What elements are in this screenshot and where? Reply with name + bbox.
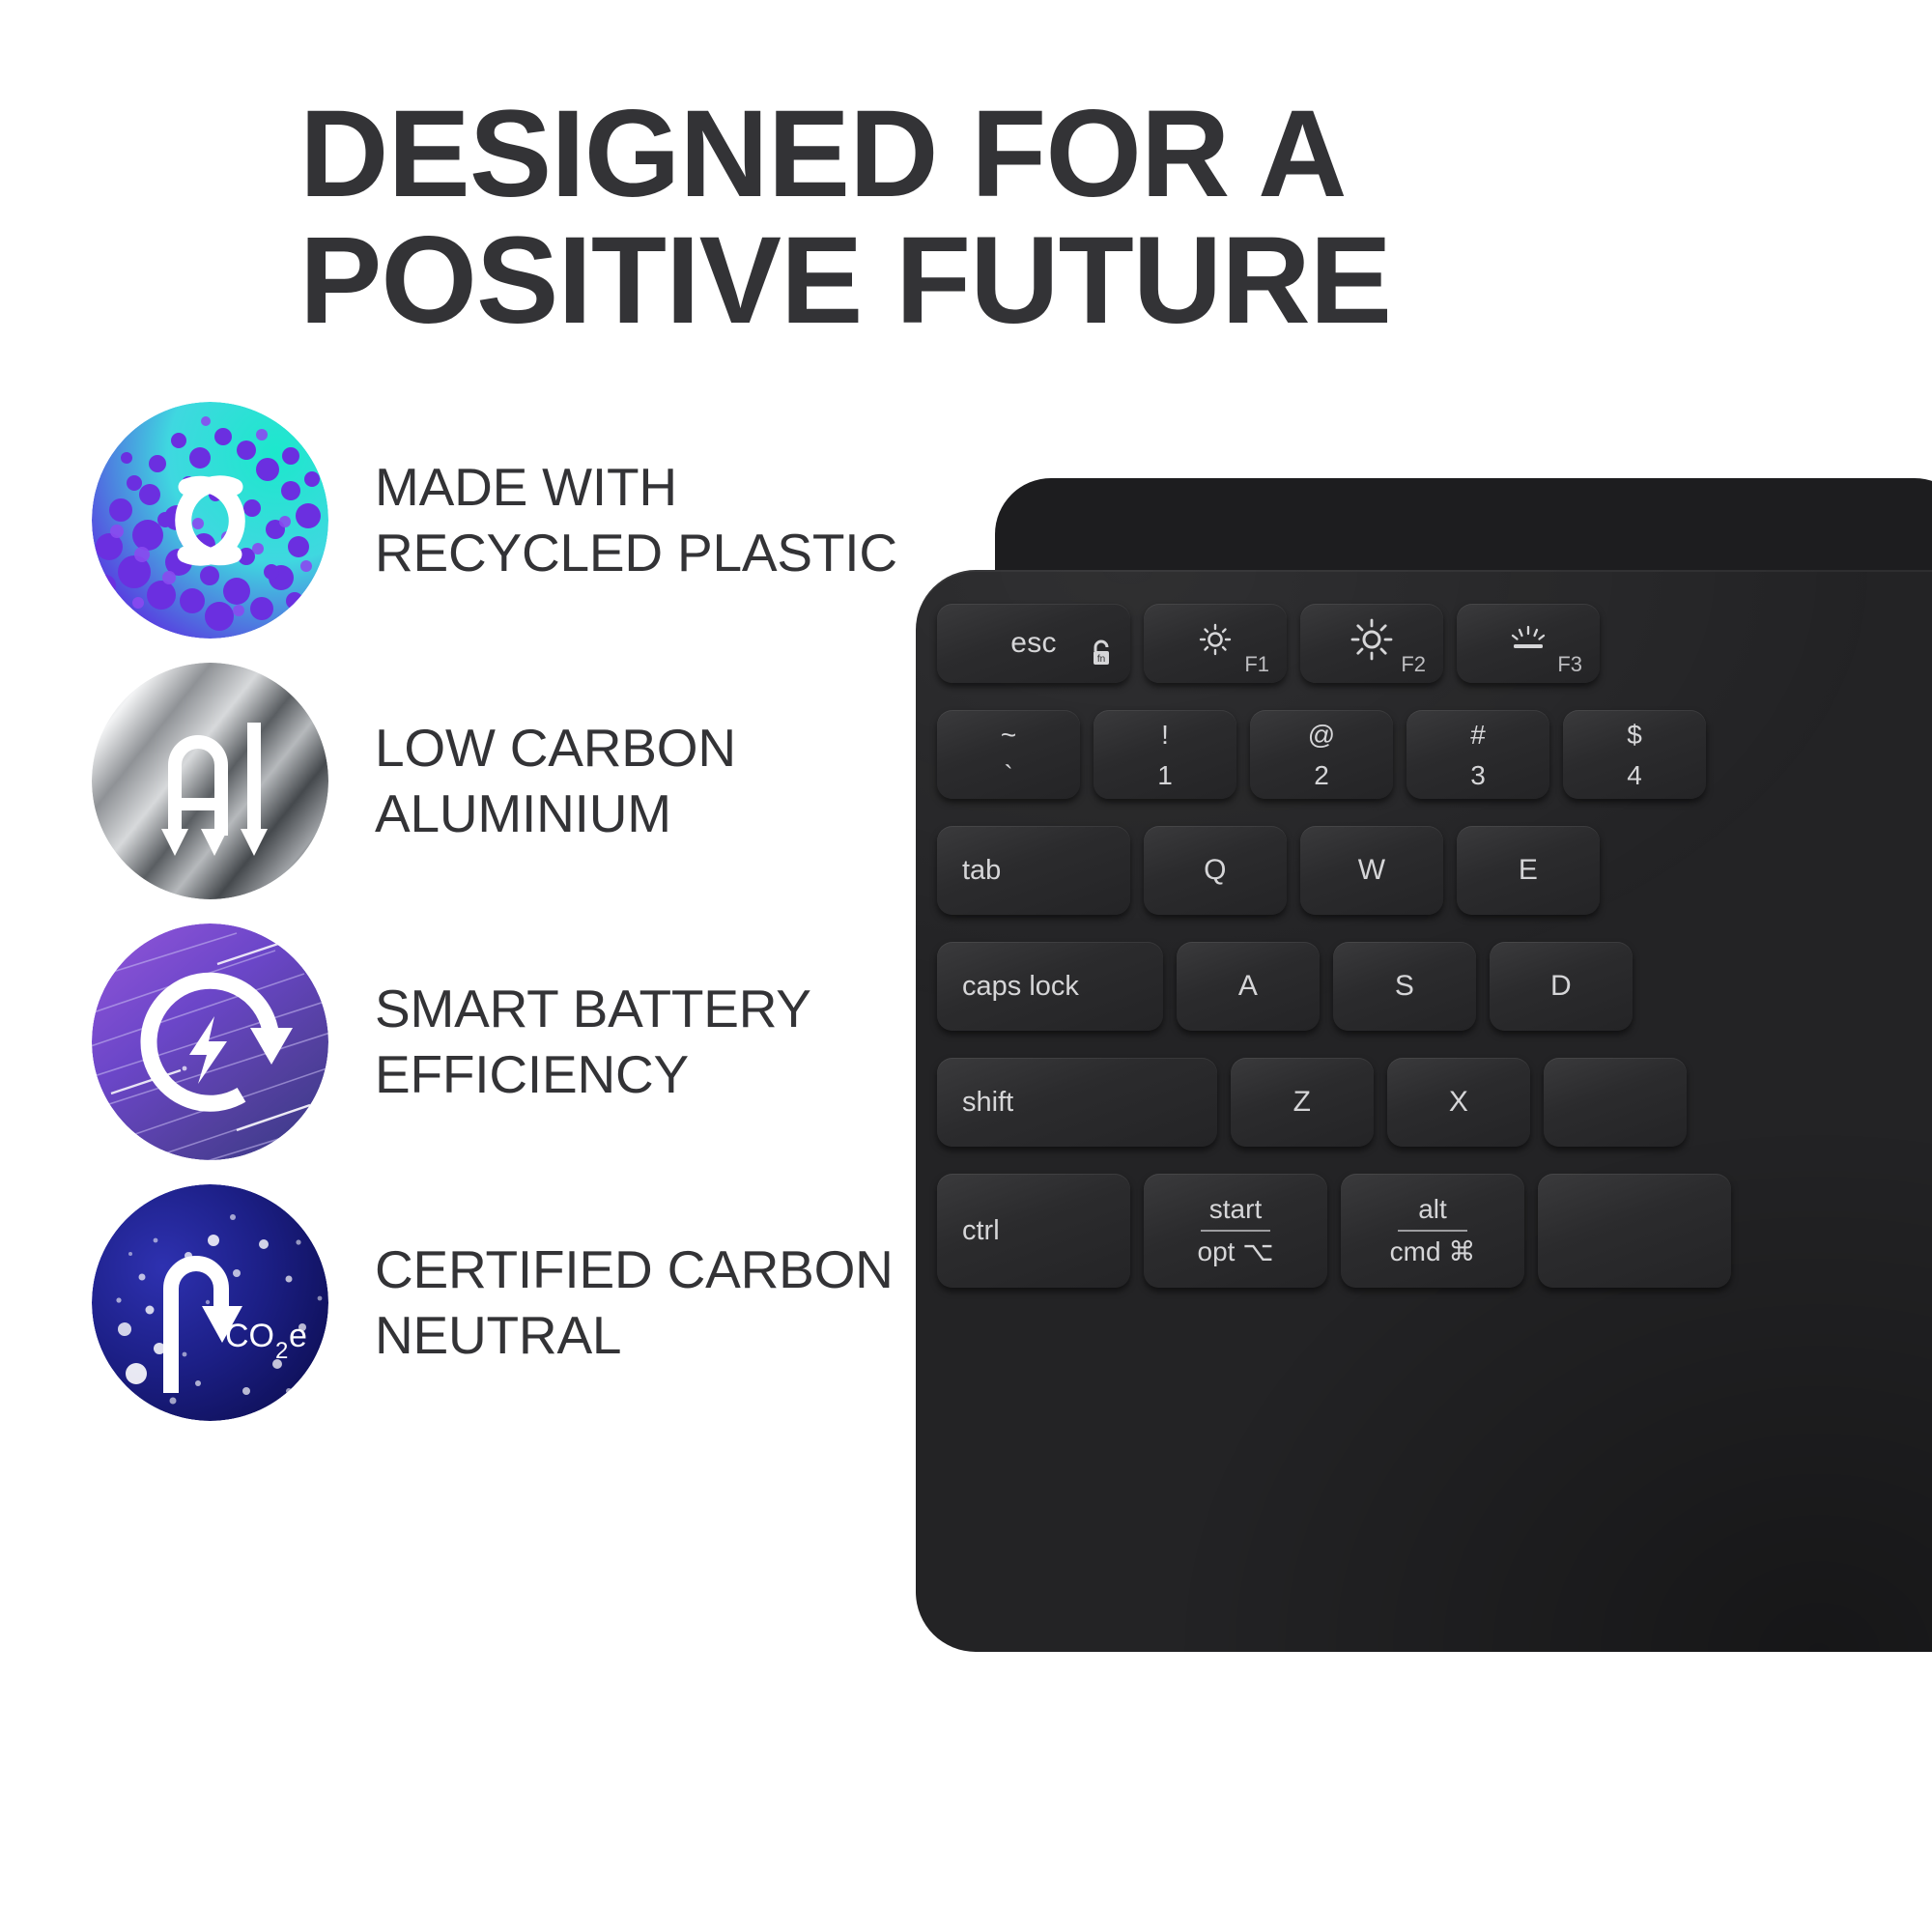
key-f3[interactable]: F3 [1457, 604, 1600, 683]
keyboard-image: esc fn [898, 478, 1932, 1753]
key-q-label: Q [1204, 854, 1227, 887]
key-1-top: ! [1161, 720, 1169, 751]
page-title-line-1: DESIGNED FOR A [299, 92, 1637, 218]
fn-lock-icon: fn [1088, 639, 1115, 675]
key-tab-label: tab [962, 855, 1001, 887]
badge-low-carbon-aluminium [92, 663, 328, 899]
key-d-label: D [1550, 970, 1572, 1003]
key-e-label: E [1519, 854, 1538, 887]
key-f2-fn-label: F2 [1401, 652, 1426, 677]
page-title: DESIGNED FOR A POSITIVE FUTURE [382, 92, 1637, 344]
backlight-icon [1506, 623, 1550, 664]
key-shift-label: shift [962, 1087, 1013, 1119]
key-e[interactable]: E [1457, 826, 1600, 915]
brightness-high-icon [1350, 617, 1394, 669]
aluminium-down-arrows-icon [92, 663, 328, 899]
key-caps-lock[interactable]: caps lock [937, 942, 1163, 1031]
key-f3-fn-label: F3 [1557, 652, 1582, 677]
key-x[interactable]: X [1387, 1058, 1530, 1147]
key-a[interactable]: A [1177, 942, 1320, 1031]
keyboard-row-shift: shift Z X [937, 1058, 1700, 1147]
keyboard-row-caps: caps lock A S D [937, 942, 1646, 1031]
key-2-top: @ [1308, 720, 1335, 751]
feature-item-low-carbon-aluminium: LOW CARBON ALUMINIUM [92, 662, 942, 900]
page-title-line-2: POSITIVE FUTURE [299, 218, 1637, 345]
key-2[interactable]: @ 2 [1250, 710, 1393, 799]
key-caps-lock-label: caps lock [962, 971, 1079, 1003]
key-f2[interactable]: F2 [1300, 604, 1443, 683]
key-w-label: W [1358, 854, 1386, 887]
key-alt-cmd-stack: alt cmd ⌘ [1390, 1196, 1476, 1265]
key-opt-label: opt ⌥ [1198, 1232, 1274, 1265]
key-q[interactable]: Q [1144, 826, 1287, 915]
battery-refresh-bolt-icon [92, 923, 328, 1160]
recycle-loop-icon [92, 402, 328, 639]
key-shift[interactable]: shift [937, 1058, 1217, 1147]
brightness-low-icon [1196, 620, 1235, 667]
key-f1[interactable]: F1 [1144, 604, 1287, 683]
key-4-bottom: 4 [1627, 760, 1642, 791]
key-tilde-top: ~ [1001, 720, 1016, 751]
key-3-bottom: 3 [1470, 760, 1486, 791]
key-alt-cmd[interactable]: alt cmd ⌘ [1341, 1174, 1524, 1288]
key-ctrl[interactable]: ctrl [937, 1174, 1130, 1288]
co2e-neutral-hook-icon: CO 2 e [92, 1184, 328, 1421]
key-alt-label: alt [1418, 1196, 1447, 1230]
svg-text:fn: fn [1097, 654, 1105, 665]
key-3-top: # [1470, 720, 1486, 751]
key-f1-fn-label: F1 [1244, 652, 1269, 677]
keyboard-row-tab: tab Q W E [937, 826, 1613, 915]
key-c[interactable] [1544, 1058, 1687, 1147]
feature-label-smart-battery-efficiency: SMART BATTERY EFFICIENCY [375, 977, 811, 1106]
key-start-label: start [1209, 1196, 1262, 1230]
keyboard-row-modifiers: ctrl start opt ⌥ alt cmd ⌘ [937, 1174, 1745, 1288]
key-ctrl-label: ctrl [962, 1215, 1000, 1247]
feature-item-recycled-plastic: MADE WITH RECYCLED PLASTIC [92, 401, 942, 639]
svg-text:2: 2 [275, 1338, 288, 1364]
key-z-label: Z [1293, 1086, 1312, 1119]
key-a-label: A [1238, 970, 1258, 1003]
key-1[interactable]: ! 1 [1094, 710, 1236, 799]
key-x-label: X [1449, 1086, 1468, 1119]
key-z[interactable]: Z [1231, 1058, 1374, 1147]
key-4[interactable]: $ 4 [1563, 710, 1706, 799]
key-spacebar[interactable] [1538, 1174, 1731, 1288]
key-w[interactable]: W [1300, 826, 1443, 915]
badge-certified-carbon-neutral: CO 2 e [92, 1184, 328, 1421]
key-esc[interactable]: esc fn [937, 604, 1130, 683]
key-1-bottom: 1 [1157, 760, 1173, 791]
key-3[interactable]: # 3 [1406, 710, 1549, 799]
badge-recycled-plastic [92, 402, 328, 639]
key-d[interactable]: D [1490, 942, 1633, 1031]
key-s[interactable]: S [1333, 942, 1476, 1031]
key-start-opt-stack: start opt ⌥ [1198, 1196, 1274, 1265]
key-esc-label: esc [1010, 627, 1057, 660]
keyboard-row-numbers: ~ ` ! 1 @ 2 # 3 $ 4 [937, 710, 1719, 799]
key-4-top: $ [1627, 720, 1642, 751]
feature-item-certified-carbon-neutral: CO 2 e CERTIFIED CARBON NEUTRAL [92, 1183, 942, 1422]
badge-smart-battery-efficiency [92, 923, 328, 1160]
key-tab[interactable]: tab [937, 826, 1130, 915]
feature-label-certified-carbon-neutral: CERTIFIED CARBON NEUTRAL [375, 1237, 894, 1367]
key-2-bottom: 2 [1314, 760, 1329, 791]
keyboard-key-rows: esc fn [898, 478, 1932, 1753]
svg-text:CO: CO [225, 1318, 274, 1354]
feature-list: MADE WITH RECYCLED PLASTIC [92, 401, 942, 1444]
key-tilde[interactable]: ~ ` [937, 710, 1080, 799]
key-start-opt[interactable]: start opt ⌥ [1144, 1174, 1327, 1288]
feature-label-recycled-plastic: MADE WITH RECYCLED PLASTIC [375, 455, 897, 584]
svg-text:e: e [289, 1318, 307, 1354]
key-tilde-bottom: ` [1004, 760, 1012, 791]
feature-item-smart-battery-efficiency: SMART BATTERY EFFICIENCY [92, 923, 942, 1161]
keyboard-row-function: esc fn [937, 604, 1613, 683]
key-cmd-label: cmd ⌘ [1390, 1232, 1476, 1265]
feature-label-low-carbon-aluminium: LOW CARBON ALUMINIUM [375, 716, 736, 845]
key-s-label: S [1395, 970, 1414, 1003]
